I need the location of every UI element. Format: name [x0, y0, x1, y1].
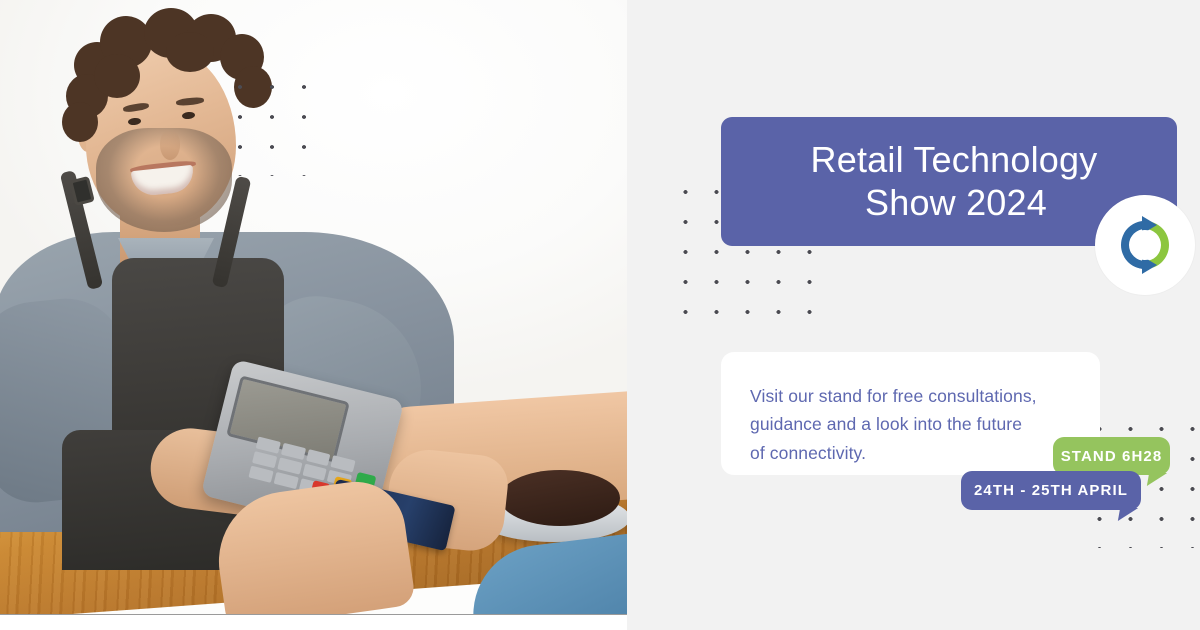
dot-grid-icon-photo	[218, 66, 306, 176]
left-photo-panel	[0, 0, 627, 615]
description-line-1: Visit our stand for free consultations,	[750, 382, 1066, 410]
right-panel-background	[627, 0, 1200, 630]
title-line-1: Retail Technology	[801, 139, 1098, 181]
brand-logo	[1095, 195, 1195, 295]
barista-payment-photo	[0, 0, 627, 615]
description-line-2: guidance and a look into the future	[750, 410, 1066, 438]
circular-arrows-logo-icon	[1112, 212, 1178, 278]
title-line-2: Show 2024	[851, 182, 1047, 224]
description-line-3: of connectivity.	[750, 439, 1066, 467]
bottom-white-strip	[0, 615, 627, 630]
event-dates-badge: 24TH - 25TH APRIL	[961, 471, 1141, 510]
coffee-cup	[500, 470, 620, 526]
stand-number-badge: STAND 6H28	[1053, 437, 1170, 475]
banner-canvas: Retail Technology Show 2024 Visit our st…	[0, 0, 1200, 630]
description-card: Visit our stand for free consultations, …	[721, 352, 1100, 475]
